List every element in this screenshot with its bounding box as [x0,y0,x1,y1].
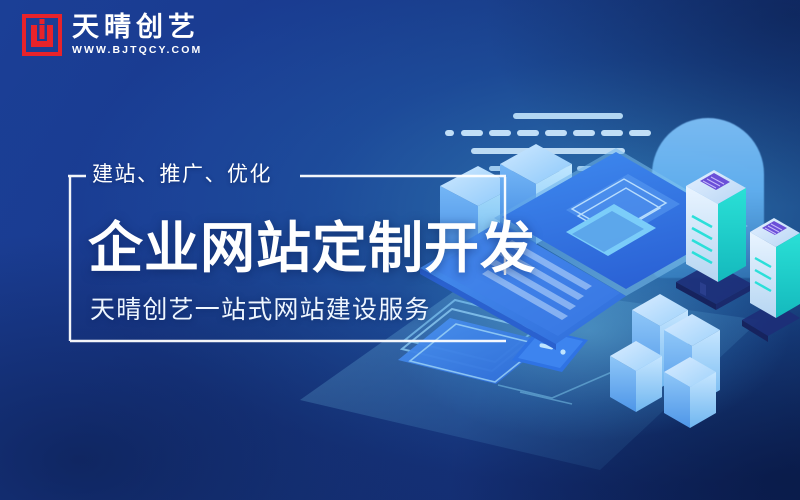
logo-website-url: WWW.BJTQCY.COM [72,45,202,56]
cluster-block-3 [610,341,662,412]
logo-company-name: 天晴创艺 [72,14,202,41]
tianqing-chuangyi-logo-mark [22,14,62,56]
server-rack-small [742,218,800,342]
hero-headline: 企业网站定制开发 [88,203,536,283]
hero-subline: 天晴创艺一站式网站建设服务 [90,290,431,326]
hero-eyebrow: 建站、推广、优化 [92,158,272,188]
site-logo[interactable]: 天晴创艺 WWW.BJTQCY.COM [22,14,202,56]
promo-banner: 天晴创艺 WWW.BJTQCY.COM 建站、推广、优化 企业网站定制开发 天晴… [0,0,800,500]
server-rack-large [676,170,752,310]
logo-text-block: 天晴创艺 WWW.BJTQCY.COM [72,14,202,56]
cluster-block-4 [664,357,716,428]
